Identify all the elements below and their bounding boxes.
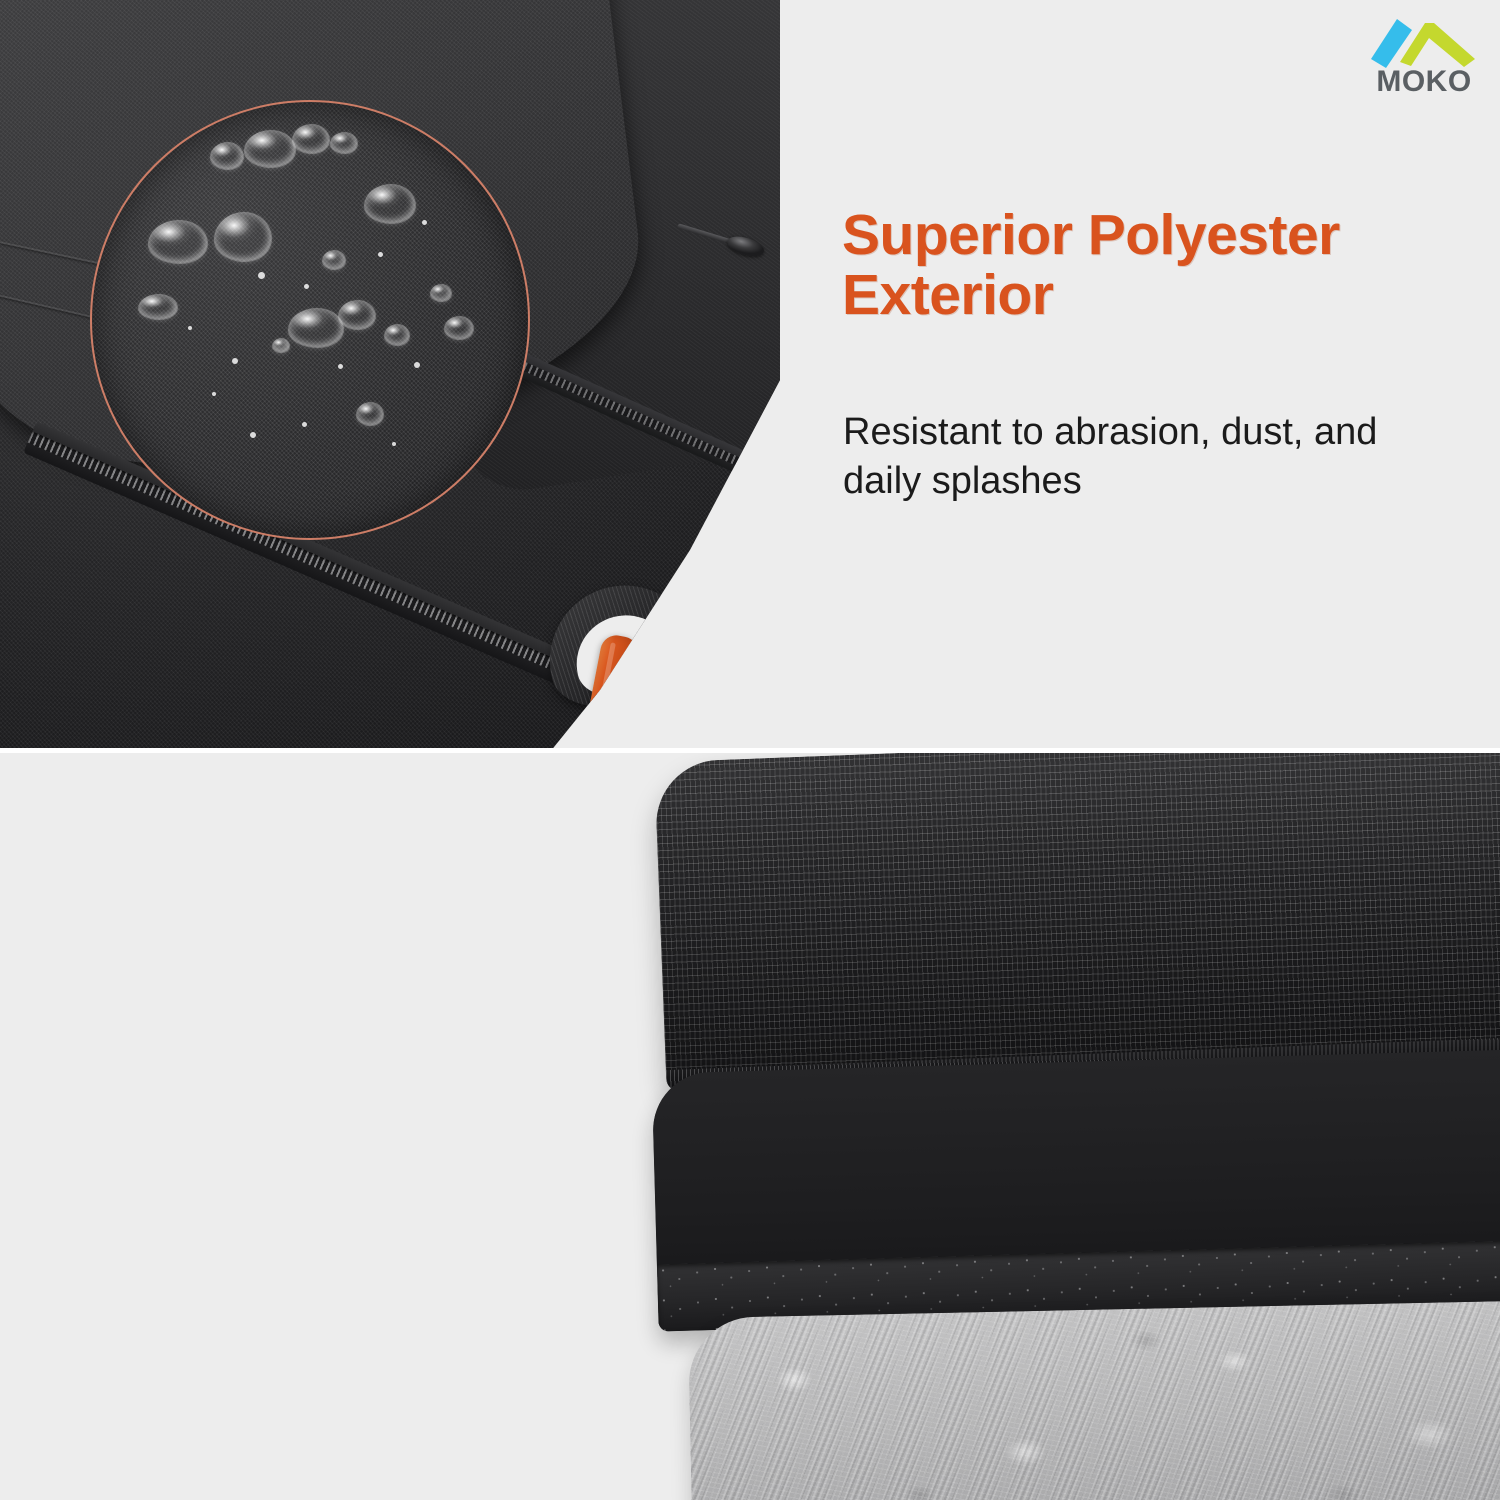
water-speck [414,362,420,368]
water-droplet [148,220,208,264]
layer-cotton-foam [652,1048,1500,1331]
water-droplet [272,338,290,353]
svg-text:MOKO: MOKO [1376,65,1471,94]
fleece-texture [688,1300,1500,1500]
water-speck [302,422,307,427]
feature-panel-cotton-interlayer: Ductile Cotton Interlayer Thick and shoc… [0,753,1500,1500]
product-photo-layer-stack [0,753,1500,1500]
feature-panel-polyester-exterior: Superior Polyester Exterior Resistant to… [0,0,1500,748]
water-speck [392,442,396,446]
infographic-canvas: Superior Polyester Exterior Resistant to… [0,0,1500,1500]
moko-logo: MOKO [1363,10,1485,94]
logo-wordmark: MOKO [1376,65,1471,94]
water-droplet [138,294,178,320]
water-droplet [356,402,384,426]
feature-subtext-polyester-exterior: Resistant to abrasion, dust, and daily s… [843,408,1443,507]
water-speck [212,392,216,396]
water-droplet [430,284,452,302]
water-droplet [330,132,358,154]
product-photo-laptop-sleeve [0,0,790,748]
water-speck [422,220,427,225]
moko-roof-logo-icon [1371,19,1475,68]
feature-headline-polyester-exterior: Superior Polyester Exterior [842,205,1482,326]
panel-divider [0,748,1500,753]
water-droplet [244,130,296,168]
water-droplet [338,300,376,330]
water-droplet [214,212,272,262]
water-speck [232,358,238,364]
water-droplet [384,324,410,346]
layer-fleece-lining [688,1300,1500,1500]
foam-top-face [652,1048,1500,1264]
water-speck [338,364,343,369]
water-droplet [322,250,346,270]
layer-polyester-fabric [654,753,1500,1092]
water-droplet [444,316,474,340]
water-speck [188,326,192,330]
water-droplet [288,308,344,348]
water-speck [250,432,256,438]
water-speck [304,284,309,289]
fabric-sheen [654,753,1500,1092]
water-speck [378,252,383,257]
water-speck [258,272,265,279]
water-droplet [292,124,330,154]
magnifier-circle [90,100,530,540]
water-droplet [364,184,416,224]
water-droplet [210,142,244,170]
